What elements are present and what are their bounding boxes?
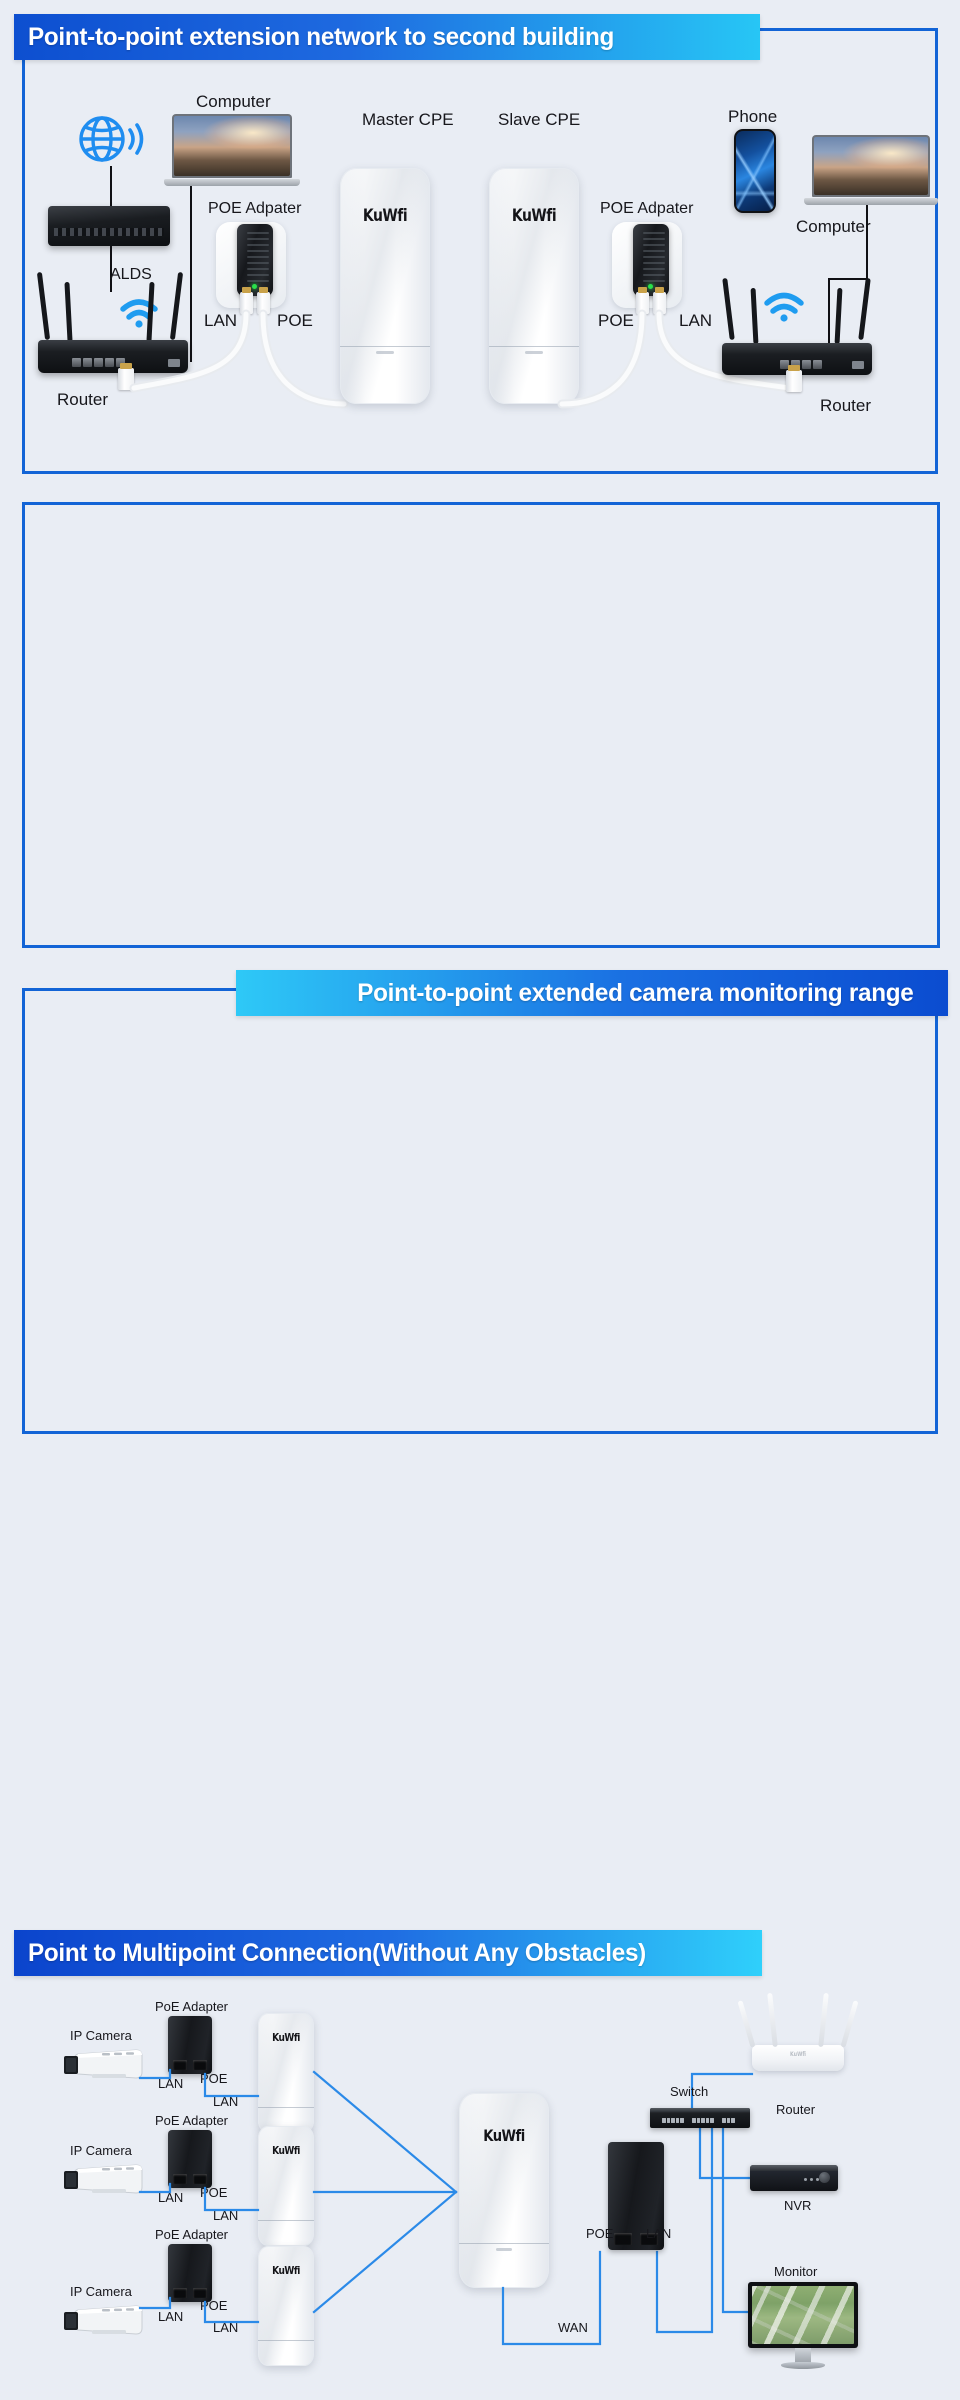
nvr-label: NVR [784, 2198, 811, 2213]
panel-1-title-banner: Point-to-point extension network to seco… [14, 14, 760, 60]
router-right-label: Router [820, 396, 871, 416]
wifi-icon-right [762, 289, 806, 323]
router-right-ports [780, 360, 822, 369]
cables-panel-1-right [0, 0, 960, 480]
hub-wan-label: WAN [558, 2320, 588, 2335]
panel-camera-monitoring-range: Switch POE Adpater LAN POE Slave CPE KuW… [0, 480, 960, 960]
hub-poe-label: POE [586, 2226, 613, 2241]
panel-3-title: Point to Multipoint Connection(Without A… [28, 1939, 646, 1968]
panel-2-title: Point-to-point extended camera monitorin… [250, 979, 913, 1008]
white-router: KuWfi [752, 2045, 844, 2071]
switch-label-p3: Switch [670, 2084, 708, 2099]
phone-label: Phone [728, 107, 777, 127]
wire-laptop-right-1 [866, 205, 868, 280]
monitor-label-p3: Monitor [774, 2264, 817, 2279]
rj45-router-right [786, 370, 802, 392]
panel-point-to-point-extension: Point-to-point extension network to seco… [0, 0, 960, 480]
switch-p3 [650, 2108, 750, 2128]
panel-2-title-banner: Point-to-point extended camera monitorin… [236, 970, 948, 1016]
router-label-p3: Router [776, 2102, 815, 2117]
panel-1-title: Point-to-point extension network to seco… [28, 23, 614, 52]
phone [734, 129, 776, 213]
panel-point-to-multipoint: Point to Multipoint Connection(Without A… [0, 960, 960, 1440]
computer-right-label: Computer [796, 217, 871, 237]
hub-lan-label: LAN [646, 2226, 671, 2241]
panel-3-title-banner: Point to Multipoint Connection(Without A… [14, 1930, 762, 1976]
laptop-right [812, 135, 930, 205]
nvr [750, 2165, 838, 2191]
monitor-p3 [748, 2282, 858, 2348]
wire-laptop-right-2 [828, 278, 868, 280]
